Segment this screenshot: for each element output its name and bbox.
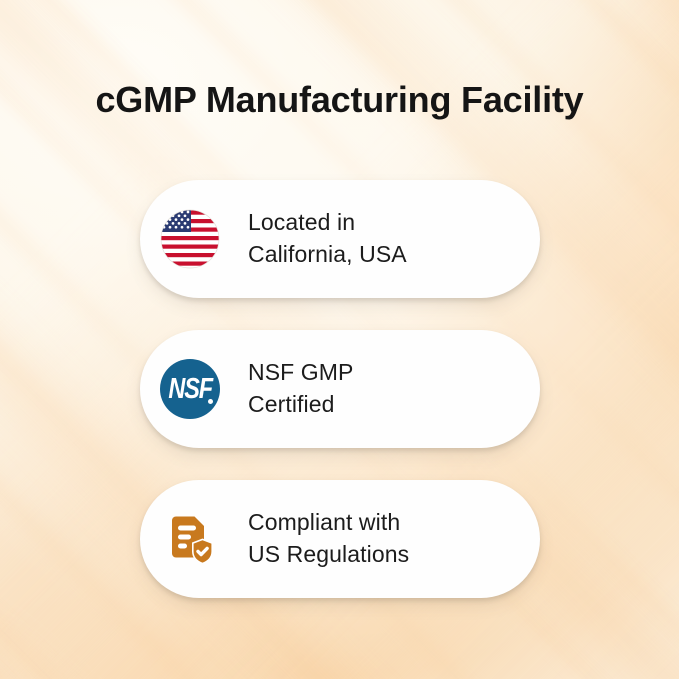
content-layer: cGMP Manufacturing Facility [0,0,679,679]
card-label-line1: Compliant with [248,509,400,535]
nsf-logo-text: NSF [168,375,212,404]
card-label-line2: California, USA [248,239,407,271]
page-title: cGMP Manufacturing Facility [0,79,679,120]
feature-card-location-label: Located in California, USA [248,207,407,270]
feature-card-list: Located in California, USA NSF NSF GMP C… [140,180,540,598]
nsf-logo-circle: NSF [160,359,220,419]
document-shield-check-icon [160,509,220,569]
card-label-line1: NSF GMP [248,359,353,385]
feature-card-nsf-label: NSF GMP Certified [248,357,353,420]
feature-card-compliance-label: Compliant with US Regulations [248,507,409,570]
registered-mark-dot [208,399,213,404]
feature-card-nsf-certified[interactable]: NSF NSF GMP Certified [140,330,540,448]
feature-card-compliance[interactable]: Compliant with US Regulations [140,480,540,598]
usa-flag-circle-icon [160,209,220,269]
card-label-line2: US Regulations [248,539,409,571]
nsf-logo-icon: NSF [160,359,220,419]
infographic-canvas: cGMP Manufacturing Facility [0,0,679,679]
card-label-line2: Certified [248,389,353,421]
feature-card-location[interactable]: Located in California, USA [140,180,540,298]
card-label-line1: Located in [248,209,355,235]
